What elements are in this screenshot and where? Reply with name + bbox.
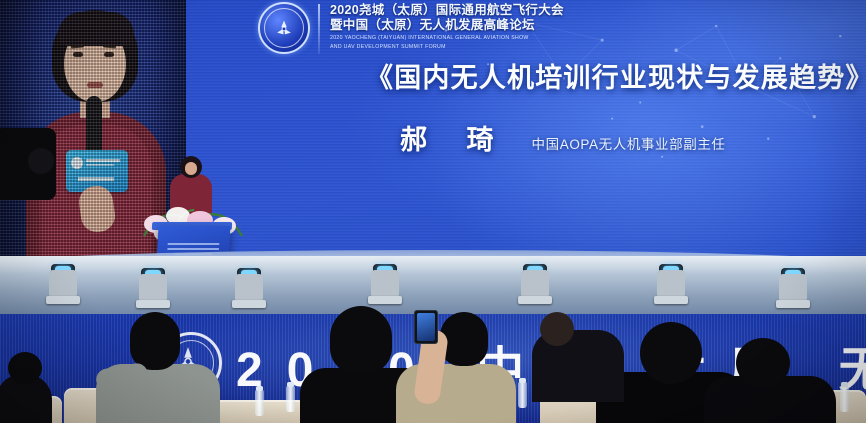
moving-head-light [232,262,266,308]
smartphone [414,310,438,344]
propeller-icon [273,17,295,39]
event-title-line-1: 2020尧城（太原）国际通用航空飞行大会 [330,3,564,18]
stage-apron [0,256,866,318]
speaker-role: 中国AOPA无人机事业部副主任 [532,133,726,153]
moving-head-light [136,262,170,308]
speaker-row: 郝 琦 中国AOPA无人机事业部副主任 [400,118,840,157]
water-bottle [255,390,264,416]
stage-speaker-face [185,162,197,175]
water-bottle [840,386,849,412]
aopa-emblem-icon [258,2,310,54]
event-header-lockup: 2020尧城（太原）国际通用航空飞行大会 暨中国（太原）无人机发展高峰论坛 20… [258,2,564,54]
speaker-name: 郝 琦 [400,118,510,157]
moving-head-light [46,258,80,304]
conference-stage-photo: 2020尧城（太原）国际通用航空飞行大会 暨中国（太原）无人机发展高峰论坛 20… [0,0,866,423]
water-bottle [286,386,295,412]
event-title-english-1: 2020 YAOCHENG (TAIYUAN) INTERNATIONAL GE… [330,35,564,42]
apron-highlight [0,256,866,274]
moving-head-light [776,262,810,308]
water-bottle [518,382,527,408]
header-divider [318,4,320,54]
moving-head-light [654,258,688,304]
broadcast-camera [0,128,56,200]
event-title-english-2: AND UAV DEVELOPMENT SUMMIT FORUM [330,44,564,51]
moving-head-light [368,258,402,304]
moving-head-light [518,258,552,304]
talk-title: 《国内无人机培训行业现状与发展趋势》 [366,56,836,95]
event-title-line-2: 暨中国（太原）无人机发展高峰论坛 [330,18,564,33]
